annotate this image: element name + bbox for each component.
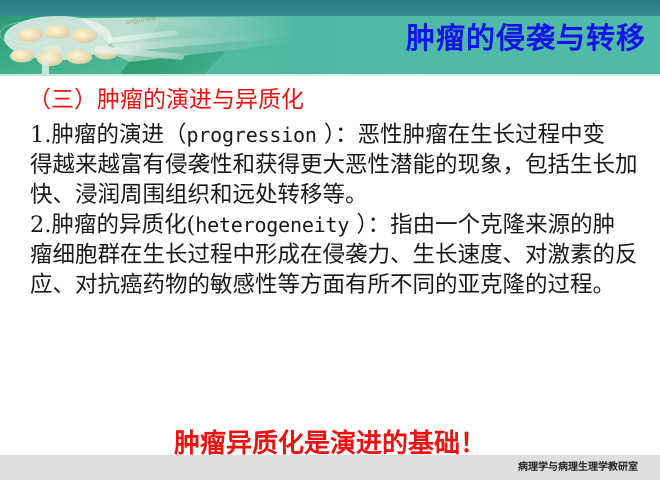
paragraph: 瘤细胞群在生长过程中形成在侵袭力、生长速度、对激素的反应、对抗癌药物的敏感性等方… [30,240,642,300]
footer-department-label: 病理学与病理生理学教研室 [518,461,638,474]
list-item-tail: ）：指由一个克隆来源的肿 [349,212,615,238]
page-title: 肿瘤的侵袭与转移 [406,20,646,56]
body-text-block: 1.肿瘤的演进（progression ）：恶性肿瘤在生长过程中变 得越来越富有… [30,120,642,300]
list-item: 1.肿瘤的演进（progression ）：恶性肿瘤在生长过程中变 [30,120,642,150]
list-item-tail: ）：恶性肿瘤在生长过程中变 [317,122,605,148]
section-subtitle: （三）肿瘤的演进与异质化 [28,86,304,114]
slide-footer: 病理学与病理生理学教研室 [0,455,660,480]
list-item-latin-term: heterogeneity [195,213,349,237]
list-item-latin-term: progression [186,123,316,147]
surgical-operating-lamp-photo: angiomed [0,16,300,74]
list-item-lead: 肿瘤的演进（ [51,122,186,148]
slide-canvas: angiomed 肿瘤的侵袭与转移 （三）肿瘤的演进与异质化 1.肿瘤的演进（p… [0,0,660,480]
list-item-number: 1. [30,122,51,148]
paragraph: 得越来越富有侵袭性和获得更大恶性潜能的现象，包括生长加快、浸润周围组织和远处转移… [30,150,642,210]
slide-header: angiomed 肿瘤的侵袭与转移 [0,0,660,76]
list-item-number: 2. [30,212,51,238]
slide-content: （三）肿瘤的演进与异质化 1.肿瘤的演进（progression ）：恶性肿瘤在… [0,76,660,456]
list-item: 2.肿瘤的异质化(heterogeneity ）：指由一个克隆来源的肿 [30,210,642,240]
list-item-lead: 肿瘤的异质化( [51,212,195,238]
header-top-band [0,0,660,16]
